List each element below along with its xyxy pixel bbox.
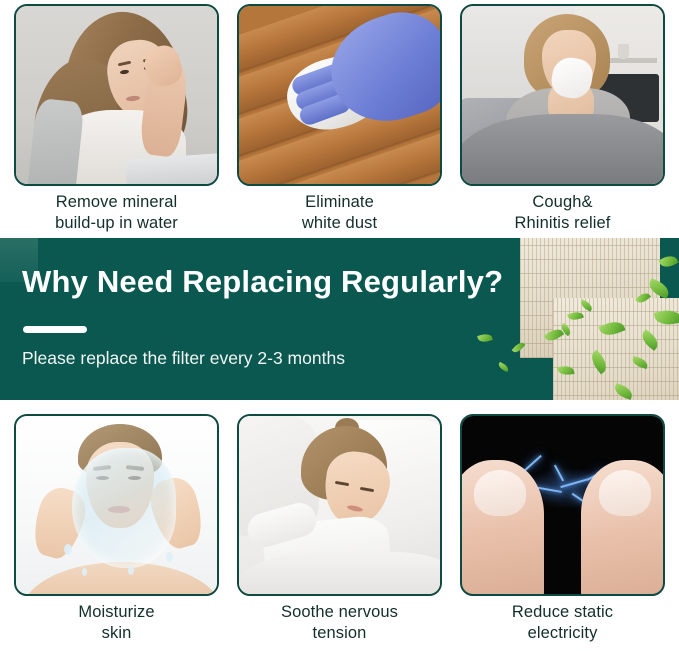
benefit-image-remove-mineral bbox=[14, 4, 219, 186]
cleaning-glove-icon bbox=[239, 6, 440, 184]
benefit-caption: Eliminate white dust bbox=[302, 192, 377, 234]
benefit-caption: Moisturize skin bbox=[78, 602, 154, 644]
benefit-image-moisturize-skin bbox=[14, 414, 219, 596]
banner-divider-bar bbox=[23, 326, 87, 333]
benefit-image-reduce-static bbox=[460, 414, 665, 596]
benefit-caption: Remove mineral build-up in water bbox=[55, 192, 178, 234]
benefit-caption: Cough& Rhinitis relief bbox=[515, 192, 611, 234]
benefits-bottom-row: Moisturize skin Soothe nervous bbox=[0, 414, 679, 644]
sneezing-woman-icon bbox=[462, 6, 663, 184]
benefits-top-row: Remove mineral build-up in water Elimina… bbox=[0, 4, 679, 234]
benefit-card-cough-relief: Cough& Rhinitis relief bbox=[460, 4, 665, 234]
benefit-card-remove-mineral: Remove mineral build-up in water bbox=[14, 4, 219, 234]
benefit-card-reduce-static: Reduce static electricity bbox=[460, 414, 665, 644]
benefit-image-cough-relief bbox=[460, 4, 665, 186]
benefit-caption: Soothe nervous tension bbox=[281, 602, 398, 644]
leaf-icon bbox=[658, 253, 678, 271]
divider-below-banner bbox=[0, 400, 679, 404]
replacement-banner: Why Need Replacing Regularly? Please rep… bbox=[0, 238, 679, 400]
benefit-image-eliminate-dust bbox=[237, 4, 442, 186]
benefit-card-eliminate-dust: Eliminate white dust bbox=[237, 4, 442, 234]
water-splash-icon bbox=[16, 416, 217, 594]
static-spark-icon bbox=[462, 416, 663, 594]
banner-subtitle: Please replace the filter every 2-3 mont… bbox=[22, 348, 345, 369]
benefit-image-soothe-tension bbox=[237, 414, 442, 596]
benefit-card-moisturize-skin: Moisturize skin bbox=[14, 414, 219, 644]
leaf-icon bbox=[497, 362, 510, 372]
banner-title: Why Need Replacing Regularly? bbox=[22, 264, 503, 300]
product-infographic: Remove mineral build-up in water Elimina… bbox=[0, 0, 679, 651]
benefit-caption: Reduce static electricity bbox=[512, 602, 613, 644]
leaf-icon bbox=[477, 332, 493, 344]
sleeping-child-icon bbox=[239, 416, 440, 594]
benefit-card-soothe-tension: Soothe nervous tension bbox=[237, 414, 442, 644]
tired-woman-icon bbox=[16, 6, 217, 184]
